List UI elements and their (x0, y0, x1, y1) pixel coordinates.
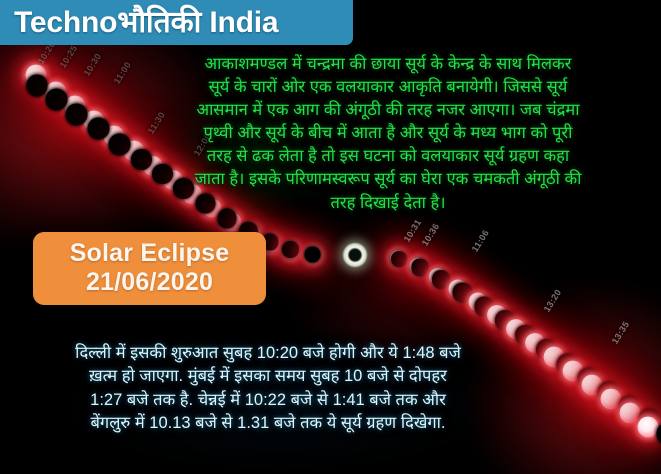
ring-core-shadow (350, 250, 361, 261)
moon-shadow (305, 246, 321, 262)
intro-line: तरह दिखाई देता है। (128, 192, 648, 215)
eclipse-phase-disc (84, 111, 105, 132)
sun-disc (449, 280, 468, 299)
intro-line: पृथ्वी और सूर्य के बीच में आता है और सूर… (128, 122, 648, 145)
sun-disc (306, 248, 321, 263)
eclipse-phase-disc (544, 347, 565, 368)
moon-shadow (638, 409, 660, 431)
intro-line: सूर्य के चारों ओर एक वलयाकार आकृति बनाये… (128, 76, 648, 99)
timing-line: ख़त्म हो जाएगा. मुंबई में इसका समय सुबह … (8, 365, 528, 388)
eclipse-time-label: 10:25 (58, 44, 79, 70)
eclipse-phase-disc (26, 65, 47, 86)
eclipse-phase-disc (264, 236, 281, 253)
badge-title: Solar Eclipse (43, 239, 256, 268)
ring-outer (342, 242, 368, 268)
eclipse-time-label: 11:06 (470, 228, 491, 254)
sun-disc (506, 319, 526, 339)
eclipse-time-label: 10:36 (420, 222, 441, 248)
sun-disc (26, 65, 47, 86)
moon-shadow (598, 382, 620, 404)
sun-disc (487, 305, 507, 325)
moon-shadow (495, 310, 516, 331)
badge-date: 21/06/2020 (43, 268, 256, 297)
sun-disc (620, 403, 641, 424)
moon-shadow (618, 395, 640, 417)
moon-shadow (66, 104, 88, 126)
solar-eclipse-badge: Solar Eclipse 21/06/2020 (33, 232, 266, 305)
eclipse-phase-disc (390, 250, 406, 266)
sun-disc (65, 96, 86, 117)
annular-ring-of-fire (342, 242, 368, 268)
eclipse-phase-disc (284, 243, 300, 259)
eclipse-phase-disc (104, 126, 125, 147)
sun-disc (284, 243, 300, 259)
eclipse-phase-disc (563, 361, 584, 382)
eclipse-phase-disc (506, 319, 526, 339)
sun-disc (638, 417, 659, 438)
sun-disc (84, 111, 105, 132)
moon-shadow (282, 241, 299, 258)
moon-shadow (474, 297, 494, 317)
eclipse-phase-disc (449, 280, 468, 299)
sun-disc (46, 82, 67, 103)
solar-eclipse-infographic: 10:2010:2510:3011:0011:3012:0010:3110:36… (0, 0, 661, 474)
moon-shadow (88, 118, 110, 140)
eclipse-phase-disc (410, 258, 427, 275)
timing-line: बेंगलुरु में 10.13 बजे से 1.31 बजे तक ये… (8, 412, 528, 435)
intro-line: तरह से ढक लेता है तो इस घटना को वलयाकार … (128, 145, 648, 168)
eclipse-phase-disc (306, 248, 321, 263)
moon-shadow (391, 251, 408, 268)
eclipse-phase-disc (65, 96, 86, 117)
moon-shadow (657, 423, 661, 445)
eclipse-phase-disc (487, 305, 507, 325)
moon-shadow (557, 353, 579, 375)
moon-shadow (453, 283, 473, 303)
timing-line: दिल्ली में इसकी शुरुआत सुबह 10:20 बजे हो… (8, 342, 528, 365)
sun-disc (469, 293, 488, 312)
sun-disc (264, 236, 281, 253)
sun-disc (410, 258, 427, 275)
sun-disc (563, 361, 584, 382)
intro-line: आसमान में एक आग की अंगूठी की तरह नजर आएग… (128, 99, 648, 122)
moon-shadow (46, 88, 68, 110)
eclipse-phase-disc (429, 268, 447, 286)
eclipse-time-label: 10:30 (82, 52, 103, 78)
timing-line: 1:27 बजे तक है. चेन्नई में 10:22 बजे से … (8, 389, 528, 412)
eclipse-phase-disc (638, 417, 659, 438)
eclipse-phase-disc (469, 293, 488, 312)
eclipse-phase-disc (46, 82, 67, 103)
moon-shadow (577, 368, 599, 390)
header-banner: Technoभौतिकी India (0, 0, 353, 45)
sun-disc (544, 347, 565, 368)
sun-disc (104, 126, 125, 147)
moon-shadow (26, 74, 48, 96)
intro-line: जाता है। इसके परिणामस्वरूप सूर्य का घेरा… (128, 168, 648, 191)
moon-shadow (432, 270, 451, 289)
eclipse-phase-disc (223, 213, 242, 232)
intro-paragraph: आकाशमण्डल में चन्द्रमा की छाया सूर्य के … (128, 53, 648, 215)
sun-disc (390, 250, 406, 266)
sun-disc (223, 213, 242, 232)
eclipse-time-label: 10:31 (402, 218, 423, 244)
eclipse-time-label: 13:35 (610, 320, 631, 346)
timing-paragraph: दिल्ली में इसकी शुरुआत सुबह 10:20 बजे हो… (8, 342, 528, 436)
intro-line: आकाशमण्डल में चन्द्रमा की छाया सूर्य के … (128, 53, 648, 76)
eclipse-time-label: 13:20 (542, 288, 563, 314)
page-title: Technoभौतिकी India (0, 8, 278, 38)
moon-shadow (536, 339, 557, 360)
moon-shadow (411, 259, 429, 277)
eclipse-phase-disc (582, 375, 603, 396)
sun-disc (525, 333, 545, 353)
sun-disc (582, 375, 603, 396)
sun-disc (601, 389, 622, 410)
eclipse-phase-disc (601, 389, 622, 410)
eclipse-phase-disc (620, 403, 641, 424)
sun-disc (429, 268, 447, 286)
eclipse-phase-disc (525, 333, 545, 353)
